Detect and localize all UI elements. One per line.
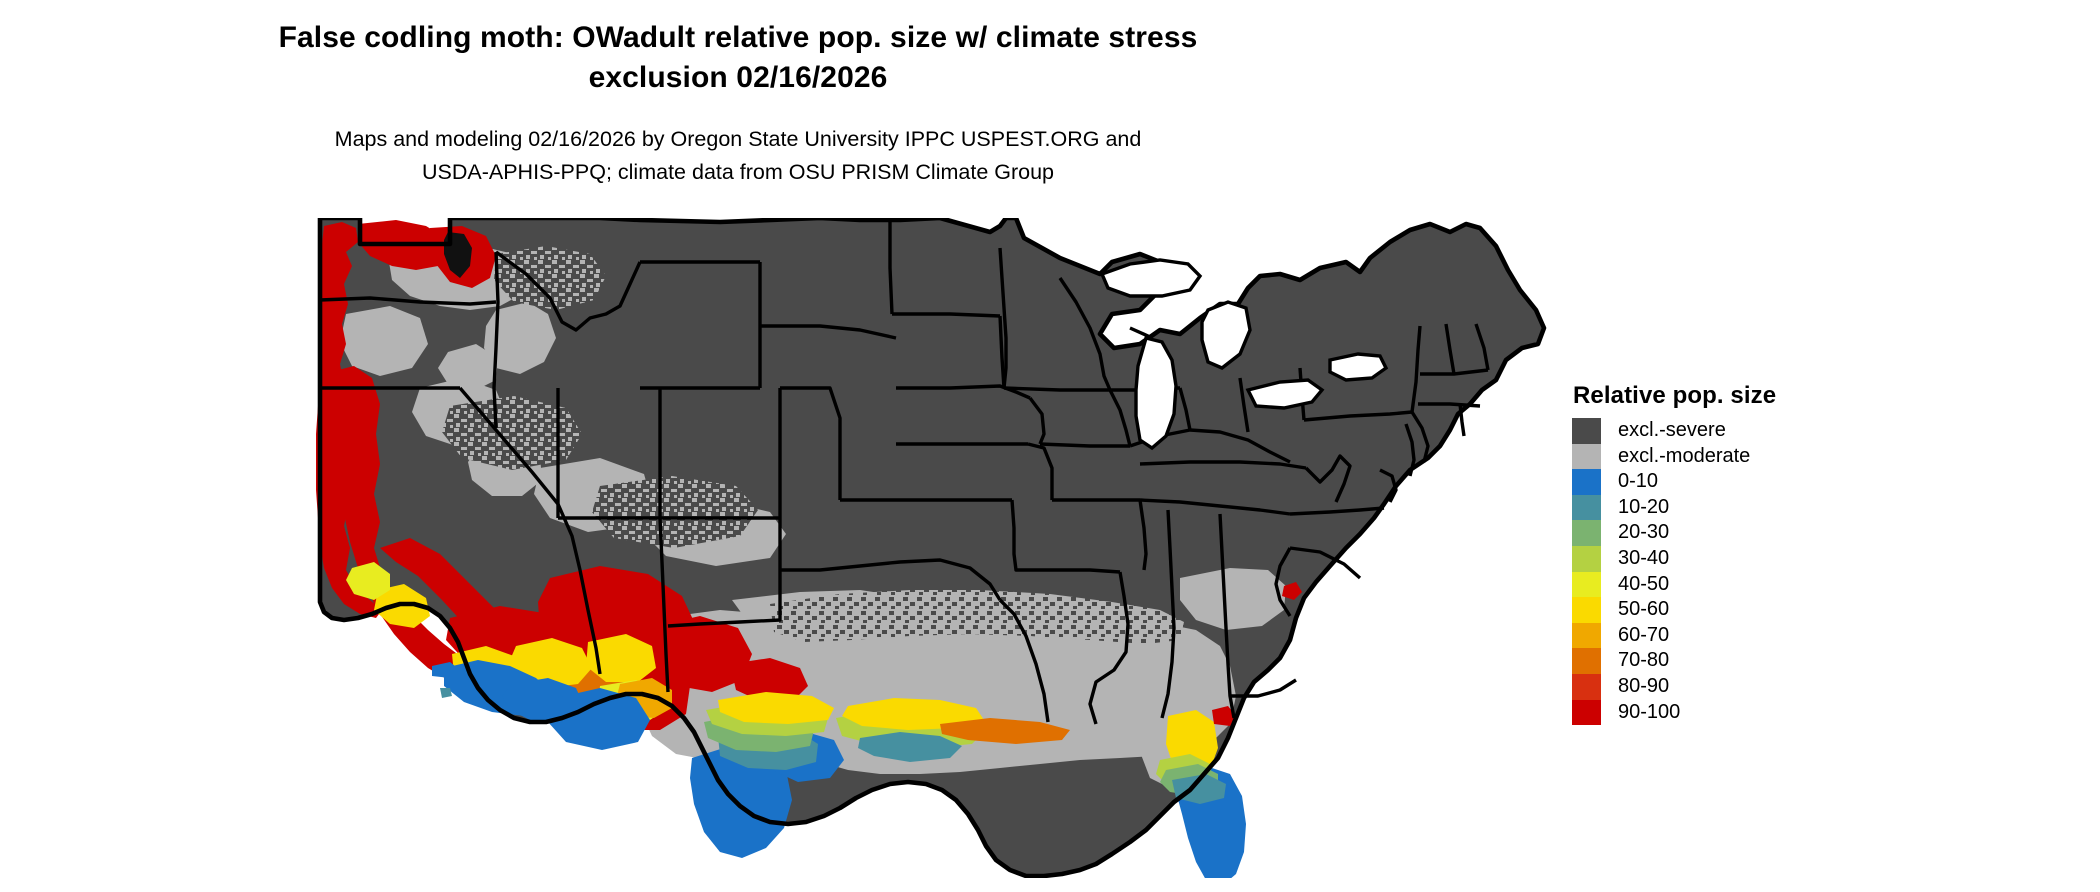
page-subtitle: Maps and modeling 02/16/2026 by Oregon S… <box>0 123 1476 189</box>
subtitle-line-2: USDA-APHIS-PPQ; climate data from OSU PR… <box>0 156 1476 189</box>
legend-label: 60-70 <box>1618 623 1669 649</box>
us-choropleth-map <box>300 218 1560 878</box>
title-line-2: exclusion 02/16/2026 <box>0 58 1476 98</box>
legend-label: 20-30 <box>1618 520 1669 546</box>
legend-swatch <box>1572 495 1601 521</box>
legend-swatch <box>1572 418 1601 444</box>
legend-title: Relative pop. size <box>1573 382 1902 410</box>
legend-swatch <box>1572 469 1601 495</box>
legend-row[interactable]: 90-100 <box>1572 700 1902 726</box>
page-title: False codling moth: OWadult relative pop… <box>0 18 1476 98</box>
legend-row[interactable]: 60-70 <box>1572 623 1902 649</box>
legend-label: 40-50 <box>1618 572 1669 598</box>
legend-items: excl.-severe excl.-moderate 0-10 10-20 2… <box>1572 418 1902 725</box>
legend-row[interactable]: 10-20 <box>1572 495 1902 521</box>
legend-swatch <box>1572 700 1601 726</box>
mottle-az-nm <box>592 476 758 548</box>
region-channel-islands-3 <box>440 688 452 698</box>
legend-label: 10-20 <box>1618 495 1669 521</box>
legend-row[interactable]: excl.-severe <box>1572 418 1902 444</box>
legend-row[interactable]: 70-80 <box>1572 648 1902 674</box>
legend-swatch <box>1572 444 1601 470</box>
legend-swatch <box>1572 623 1601 649</box>
legend-row[interactable]: 20-30 <box>1572 520 1902 546</box>
legend-swatch <box>1572 520 1601 546</box>
legend-row[interactable]: 50-60 <box>1572 597 1902 623</box>
legend-swatch <box>1572 648 1601 674</box>
legend-row[interactable]: excl.-moderate <box>1572 444 1902 470</box>
map-layers <box>316 218 1544 878</box>
legend-swatch <box>1572 674 1601 700</box>
border-mt-nd <box>890 218 892 314</box>
border-ar-la <box>1050 570 1120 572</box>
legend-label: 90-100 <box>1618 700 1680 726</box>
legend-row[interactable]: 30-40 <box>1572 546 1902 572</box>
map-svg <box>300 218 1560 878</box>
legend-row[interactable]: 40-50 <box>1572 572 1902 598</box>
legend-label: 0-10 <box>1618 469 1658 495</box>
legend-label: 30-40 <box>1618 546 1669 572</box>
legend-row[interactable]: 0-10 <box>1572 469 1902 495</box>
map-legend: Relative pop. size excl.-severe excl.-mo… <box>1572 382 1902 725</box>
legend-swatch <box>1572 572 1601 598</box>
legend-label: 80-90 <box>1618 674 1669 700</box>
map-page: False codling moth: OWadult relative pop… <box>0 0 2100 892</box>
legend-swatch <box>1572 546 1601 572</box>
legend-label: 50-60 <box>1618 597 1669 623</box>
legend-row[interactable]: 80-90 <box>1572 674 1902 700</box>
legend-label: excl.-moderate <box>1618 444 1750 470</box>
legend-swatch <box>1572 597 1601 623</box>
title-line-1: False codling moth: OWadult relative pop… <box>0 18 1476 58</box>
subtitle-line-1: Maps and modeling 02/16/2026 by Oregon S… <box>0 123 1476 156</box>
legend-label: excl.-severe <box>1618 418 1726 444</box>
legend-label: 70-80 <box>1618 648 1669 674</box>
